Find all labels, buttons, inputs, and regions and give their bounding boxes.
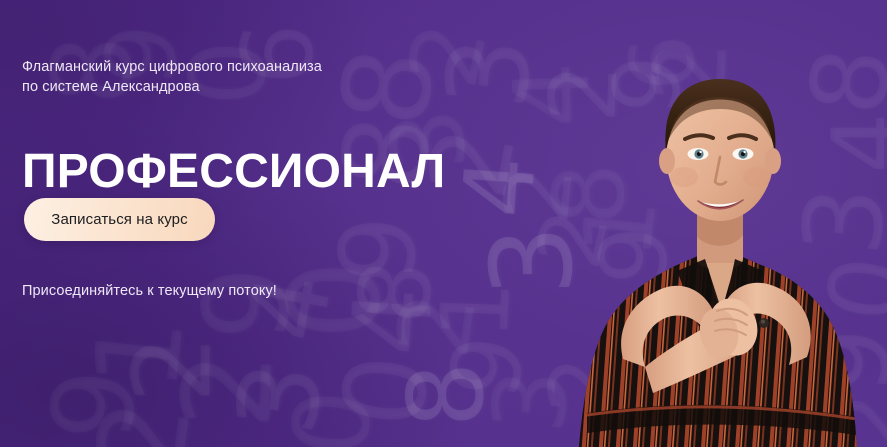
page-title: ПРОФЕССИОНАЛ bbox=[22, 144, 445, 200]
hero-subtitle: Флагманский курс цифрового психоанализа … bbox=[22, 57, 442, 97]
hero-subtitle-line-2: по системе Александрова bbox=[22, 77, 442, 97]
hero-copy: Флагманский курс цифрового психоанализа … bbox=[22, 0, 482, 447]
hero-subtitle-line-1: Флагманский курс цифрового психоанализа bbox=[22, 57, 442, 77]
hero-tagline: Присоединяйтесь к текущему потоку! bbox=[22, 281, 277, 301]
hero-banner: 8234283242893219421089329408230129289069… bbox=[0, 0, 887, 447]
enroll-course-button[interactable]: Записаться на курс bbox=[24, 198, 215, 241]
instructor-portrait bbox=[557, 27, 887, 447]
